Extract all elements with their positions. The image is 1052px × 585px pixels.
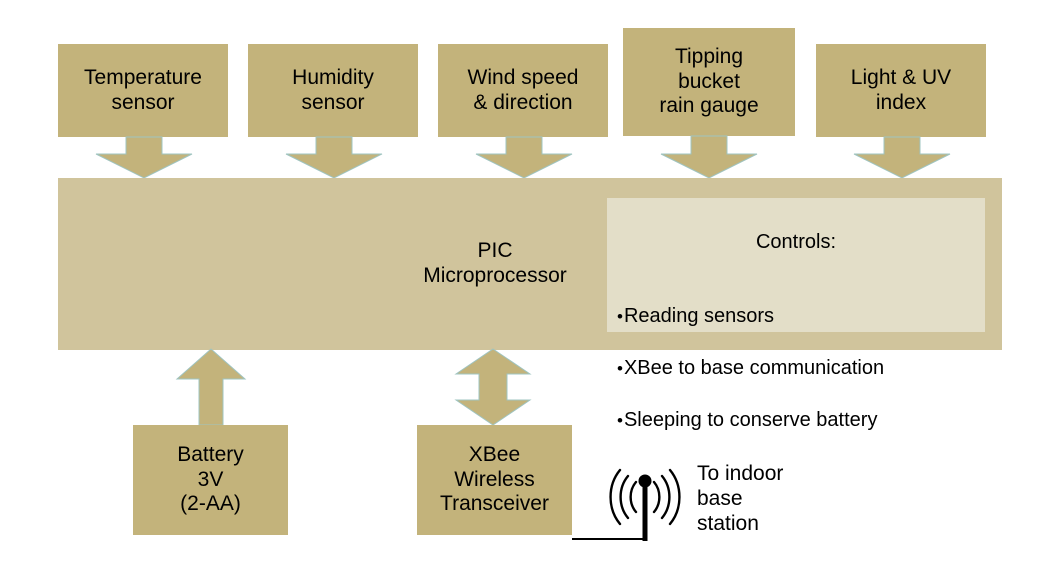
sensor-box-light-uv[interactable]: Light & UV index xyxy=(816,44,986,137)
controls-item: XBee to base communication xyxy=(617,354,985,382)
controls-panel: Controls: Reading sensors XBee to base c… xyxy=(607,198,985,332)
battery-box[interactable]: Battery 3V (2-AA) xyxy=(133,425,288,535)
controls-title: Controls: xyxy=(607,229,985,255)
xbee-transceiver-box[interactable]: XBee Wireless Transceiver xyxy=(417,425,572,535)
sensor-label-light-uv: Light & UV index xyxy=(851,66,951,116)
microprocessor-label: PIC Microprocessor xyxy=(390,238,600,288)
controls-item: Sleeping to conserve battery xyxy=(617,406,985,434)
controls-item: Reading sensors xyxy=(617,302,985,330)
sensor-box-temperature[interactable]: Temperature sensor xyxy=(58,44,228,137)
battery-label: Battery 3V (2-AA) xyxy=(177,443,244,517)
controls-list: Reading sensors XBee to base communicati… xyxy=(607,278,985,458)
sensor-label-wind: Wind speed & direction xyxy=(468,66,579,116)
arrow-light-uv-to-pic xyxy=(853,137,951,179)
sensor-label-rain-gauge: Tipping bucket rain gauge xyxy=(659,45,758,119)
sensor-label-humidity: Humidity sensor xyxy=(292,66,374,116)
arrow-battery-to-pic xyxy=(176,348,246,426)
arrow-temperature-to-pic xyxy=(95,137,193,179)
sensor-box-humidity[interactable]: Humidity sensor xyxy=(248,44,418,137)
antenna-icon xyxy=(600,450,690,542)
xbee-transceiver-label: XBee Wireless Transceiver xyxy=(440,443,549,517)
block-diagram: Temperature sensor Humidity sensor Wind … xyxy=(0,0,1052,585)
destination-label: To indoor base station xyxy=(697,461,877,537)
arrow-wind-to-pic xyxy=(475,137,573,179)
sensor-box-rain-gauge[interactable]: Tipping bucket rain gauge xyxy=(623,28,795,136)
arrow-rain-gauge-to-pic xyxy=(660,136,758,179)
arrow-xbee-to-pic xyxy=(455,348,531,426)
sensor-label-temperature: Temperature sensor xyxy=(84,66,202,116)
arrow-humidity-to-pic xyxy=(285,137,383,179)
sensor-box-wind[interactable]: Wind speed & direction xyxy=(438,44,608,137)
